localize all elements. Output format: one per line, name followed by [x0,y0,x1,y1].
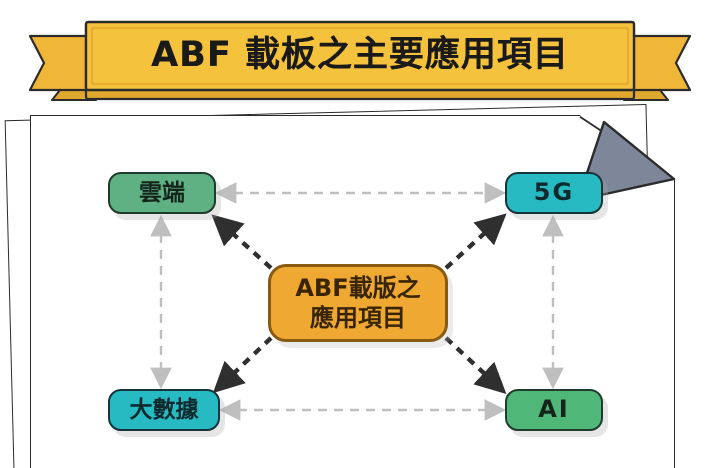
banner-plate [86,22,634,90]
node-center-abf[interactable]: ABF載版之 應用項目 [268,264,448,342]
node-ai[interactable]: AI [505,389,603,431]
node-big-data[interactable]: 大數據 [108,389,220,431]
node-5g-label: 5G [534,180,574,205]
node-cloud-label: 雲端 [139,181,185,205]
node-5g[interactable]: 5G [505,172,603,214]
title-banner: ABF 載板之主要應用項目 [0,8,720,112]
node-center-line-1: ABF載版之 [295,273,420,303]
slide-canvas: 雲端 5G 大數據 AI ABF載版之 應用項目 ABF 載 [0,0,720,468]
node-cloud[interactable]: 雲端 [108,172,216,214]
node-big-data-label: 大數據 [130,398,199,422]
node-center-line-2: 應用項目 [310,303,406,333]
title-banner-shape [0,8,720,112]
node-ai-label: AI [538,397,570,422]
